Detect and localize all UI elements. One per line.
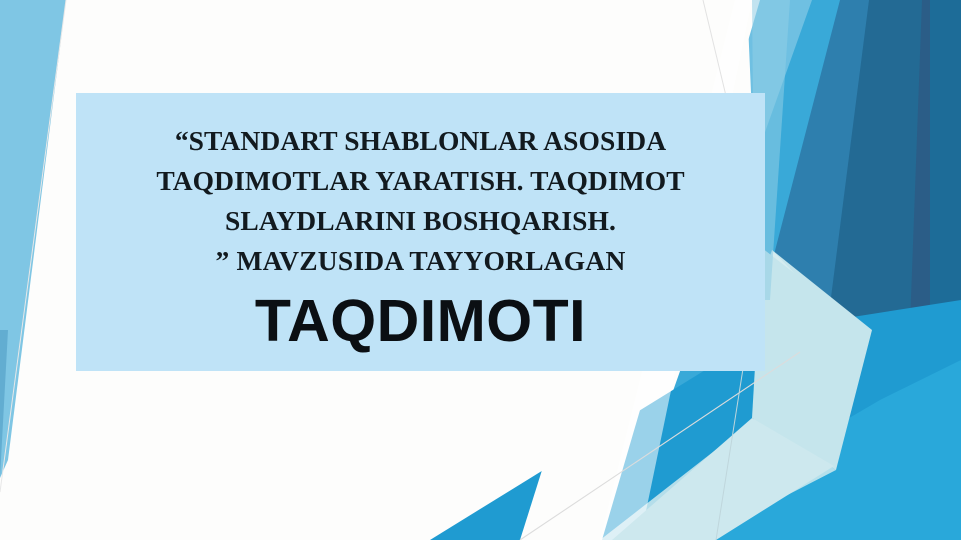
subtitle-line-3: SLAYDLARINI BOSHQARISH. <box>225 201 616 241</box>
title-text-box[interactable]: “STANDART SHABLONLAR ASOSIDA TAQDIMOTLAR… <box>76 93 765 371</box>
main-title: TAQDIMOTI <box>255 288 586 354</box>
subtitle-line-2: TAQDIMOTLAR YARATISH. TAQDIMOT <box>156 161 684 201</box>
subtitle-line-4: ” MAVZUSIDA TAYYORLAGAN <box>215 241 625 281</box>
subtitle-line-1: “STANDART SHABLONLAR ASOSIDA <box>175 121 666 161</box>
presentation-slide: “STANDART SHABLONLAR ASOSIDA TAQDIMOTLAR… <box>0 0 961 540</box>
